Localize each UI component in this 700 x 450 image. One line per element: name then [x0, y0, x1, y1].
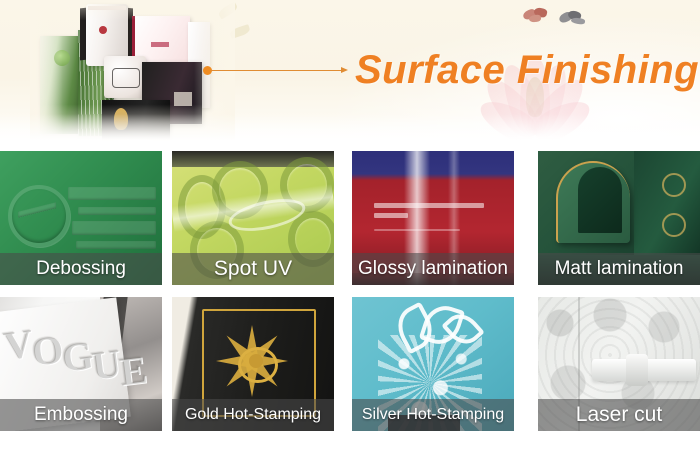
tile-label: Debossing	[0, 253, 162, 285]
finishing-tile-grid: Debossing Spot UV	[0, 151, 700, 450]
tile-embossing[interactable]: V O G U E Embossing	[0, 297, 162, 431]
tile-matt-lamination[interactable]: Matt lamination	[538, 151, 700, 285]
tile-label: Silver Hot-Stamping	[352, 399, 514, 431]
butterfly-icon	[523, 8, 551, 22]
tile-gold-hot-stamping[interactable]: Gold Hot-Stamping	[172, 297, 334, 431]
tile-label: Embossing	[0, 399, 162, 431]
header-fade	[0, 114, 700, 148]
butterfly-icon	[558, 10, 586, 26]
tile-glossy-lamination[interactable]: Glossy lamination	[352, 151, 514, 285]
page-header: Surface Finishing	[0, 0, 700, 148]
tile-silver-hot-stamping[interactable]: Silver Hot-Stamping	[352, 297, 514, 431]
sun-icon	[238, 347, 278, 383]
surface-finishing-page: Surface Finishing Debossing	[0, 0, 700, 450]
tile-label: Gold Hot-Stamping	[172, 399, 334, 431]
connector-arrow-icon	[341, 67, 348, 73]
tile-label: Matt lamination	[538, 253, 700, 285]
tile-spot-uv[interactable]: Spot UV	[172, 151, 334, 285]
title-connector-line	[203, 64, 351, 78]
tile-debossing[interactable]: Debossing	[0, 151, 162, 285]
tile-laser-cut[interactable]: Laser cut	[538, 297, 700, 431]
tile-label: Spot UV	[172, 253, 334, 285]
tile-label: Glossy lamination	[352, 253, 514, 285]
tile-label: Laser cut	[538, 399, 700, 431]
page-title: Surface Finishing	[355, 48, 699, 93]
emboss-letter: E	[117, 346, 149, 396]
